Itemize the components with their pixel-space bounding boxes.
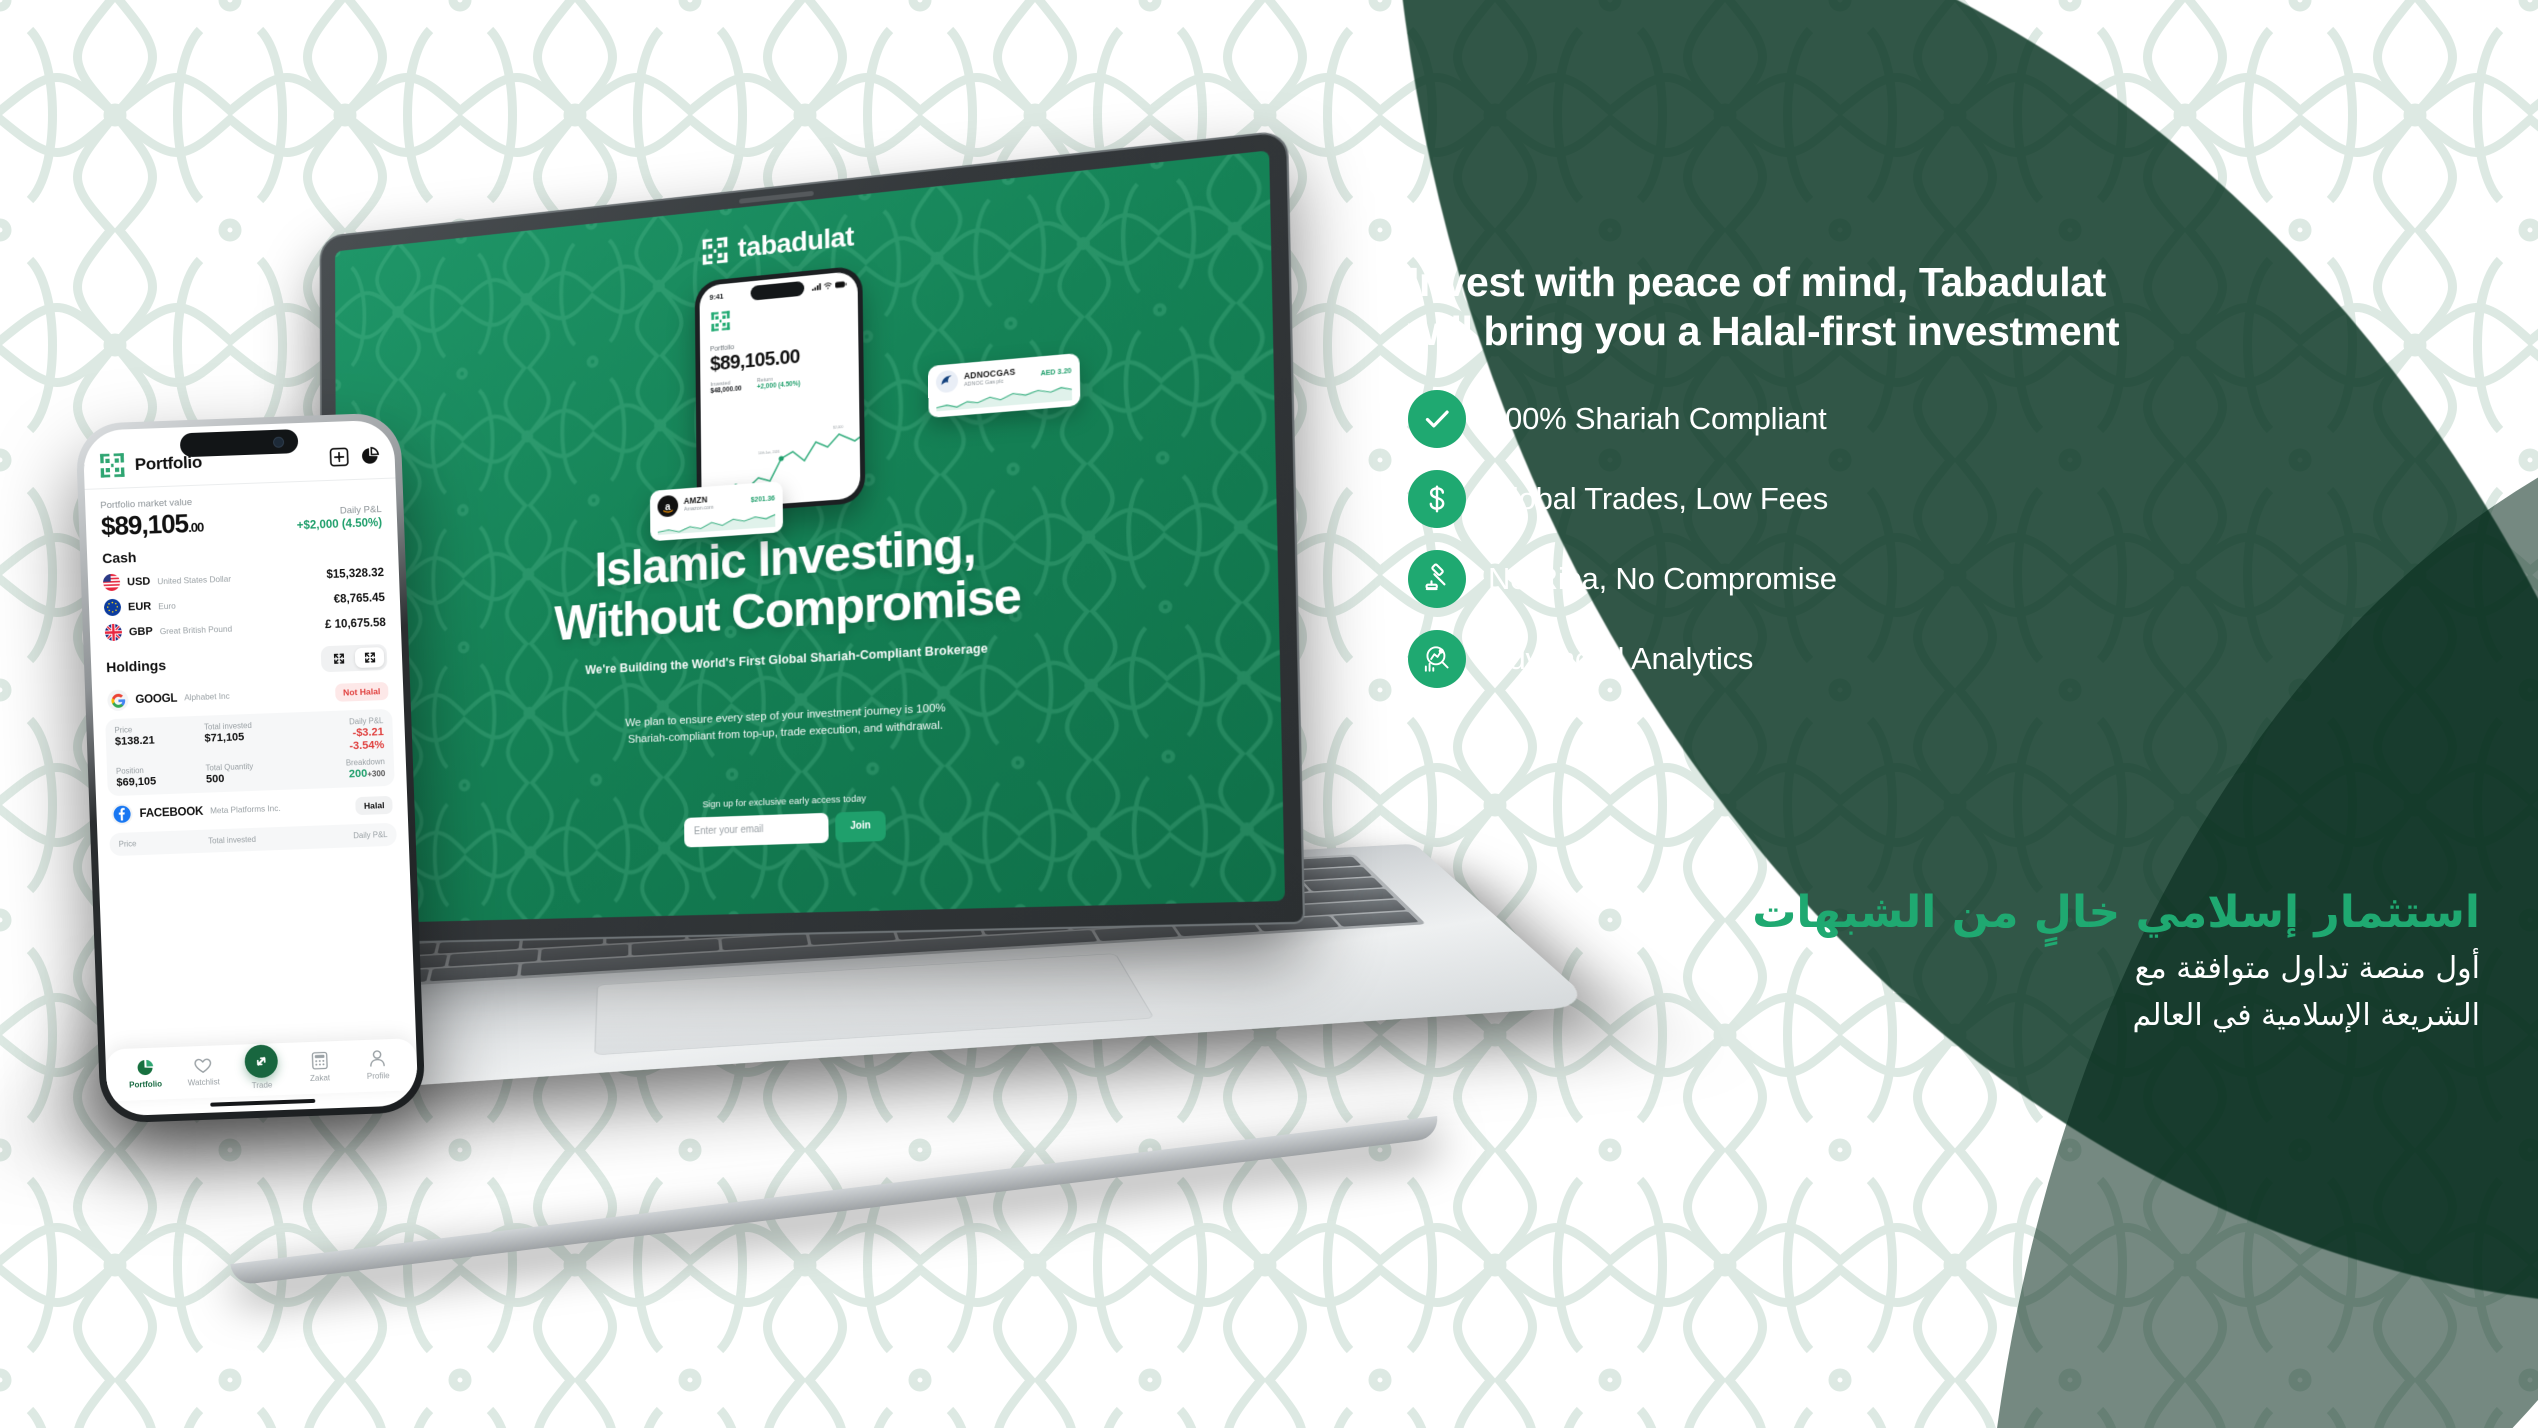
tab-label: Trade — [252, 1080, 273, 1090]
pnl-cell: Daily P&L — [298, 830, 388, 842]
laptop-body-copy: We plan to ensure every step of your inv… — [625, 700, 946, 749]
arabic-headline: استثمار إسلامي خالٍ من الشبهات — [1380, 885, 2480, 940]
status-badge: Not Halal — [335, 681, 389, 701]
wifi-icon — [824, 282, 833, 290]
quantity-value: 500 — [206, 770, 296, 785]
add-square-icon[interactable] — [329, 447, 349, 467]
collapse-view-icon[interactable] — [324, 648, 354, 669]
laptop-screen: tabadulat 9:41 — [335, 150, 1285, 924]
home-indicator — [210, 1099, 315, 1107]
laptop-lid: tabadulat 9:41 — [320, 130, 1306, 945]
holdings-view-toggle[interactable] — [321, 644, 388, 672]
breakdown-rest: +300 — [367, 769, 385, 779]
arabic-subtext: أول منصة تداول متوافقة مع الشريعة الإسلا… — [1380, 946, 2480, 1039]
hero-invested-block: Invested $48,000.00 — [710, 380, 741, 395]
laptop-tagline: We're Building the World's First Global … — [585, 641, 988, 677]
breakdown-cell: Breakdown 200+300 — [295, 757, 385, 782]
holding-ticker: FACEBOOK — [139, 805, 203, 819]
pie-chart-icon[interactable] — [360, 446, 380, 466]
hero-invested-value: $48,000.00 — [710, 385, 741, 395]
holding-company: Alphabet Inc — [184, 692, 230, 703]
right-content-panel: Invest with peace of mind, Tabadulat wil… — [1408, 258, 2468, 688]
eu-flag-icon — [104, 599, 122, 617]
floating-card-adnocgas[interactable]: ADNOCGAS ADNOC Gas plc AED 3.20 — [928, 353, 1081, 418]
calculator-icon — [311, 1050, 328, 1071]
tabadulat-wordmark: tabadulat — [738, 221, 855, 264]
google-logo-icon — [107, 689, 129, 711]
laptop-hero-title: Islamic Investing, Without Compromise — [554, 516, 1021, 650]
portfolio-market-value: $89,105.00 — [101, 510, 204, 540]
adnoc-logo-icon — [936, 370, 958, 394]
phone-mockup: Portfolio Portfolio market value — [75, 412, 425, 1123]
facebook-logo-icon — [111, 803, 133, 825]
bottom-tab-bar: Portfolio Watchlist Trade — [105, 1038, 418, 1101]
currency-code: USD — [127, 575, 151, 588]
currency-name: Euro — [158, 600, 176, 611]
holding-company: Meta Platforms Inc. — [210, 804, 281, 816]
currency-name: Great British Pound — [160, 623, 233, 636]
expand-view-icon[interactable] — [355, 647, 385, 668]
gb-flag-icon — [105, 624, 123, 642]
hero-phone-notch — [751, 281, 805, 301]
cellular-icon — [811, 283, 821, 291]
feature-list: 100% Shariah Compliant Global Trades, Lo… — [1408, 390, 2468, 688]
heart-icon — [194, 1055, 213, 1076]
pnl-percent: -3.54% — [294, 739, 384, 754]
currency-code: GBP — [129, 625, 153, 638]
price-cell: Price $138.21 — [114, 723, 205, 761]
currency-code: EUR — [128, 600, 152, 613]
currency-amount: €8,765.45 — [333, 591, 385, 605]
floating-card-amzn[interactable]: a AMZN Amazon.com $201.36 — [650, 481, 783, 541]
tab-label: Zakat — [310, 1073, 330, 1083]
gavel-icon — [1408, 550, 1466, 608]
feature-item-global-trades: Global Trades, Low Fees — [1408, 470, 2468, 528]
feature-item-shariah-compliant: 100% Shariah Compliant — [1408, 390, 2468, 448]
feature-label: Global Trades, Low Fees — [1488, 481, 1828, 517]
quantity-cell: Total Quantity 500 — [205, 760, 295, 785]
dollar-icon — [1408, 470, 1466, 528]
svg-text:14th Jan, 2026: 14th Jan, 2026 — [758, 450, 780, 456]
invested-label: Total invested — [208, 833, 298, 845]
tabadulat-mark-icon — [701, 235, 730, 267]
holding-ticker: GOOGL — [135, 692, 177, 706]
analytics-icon — [1408, 630, 1466, 688]
signup-label: Sign up for exclusive early access today — [702, 793, 866, 810]
join-button[interactable]: Join — [835, 810, 885, 842]
promo-banner: tabadulat 9:41 — [0, 0, 2538, 1428]
position-value: $69,105 — [116, 774, 206, 789]
price-label: Price — [119, 837, 209, 849]
trade-arrows-icon — [244, 1044, 278, 1078]
daily-pnl-block: Daily P&L +$2,000 (4.50%) — [296, 504, 382, 532]
tab-portfolio[interactable]: Portfolio — [116, 1056, 175, 1090]
signup-form: Sign up for exclusive early access today… — [684, 792, 886, 847]
email-input[interactable] — [684, 812, 829, 847]
price-cell: Price — [119, 837, 209, 849]
laptop-mockup: tabadulat 9:41 — [255, 175, 1395, 1275]
breakdown-main: 200 — [349, 768, 368, 781]
invested-cell: Total invested $71,105 — [204, 719, 295, 757]
breakdown-value: 200+300 — [295, 767, 385, 782]
laptop-brand-logo: tabadulat — [701, 221, 854, 268]
tab-label: Watchlist — [188, 1077, 220, 1087]
battery-icon — [835, 281, 847, 289]
tab-label: Profile — [367, 1071, 390, 1081]
tabadulat-mark-icon — [98, 451, 126, 479]
status-time: 9:41 — [709, 292, 723, 302]
portfolio-value-cents: .00 — [188, 520, 204, 536]
holdings-section-title: Holdings — [106, 657, 166, 675]
tab-label: Portfolio — [129, 1079, 162, 1089]
feature-item-no-riba: No Riba, No Compromise — [1408, 550, 2468, 608]
feature-label: Advanced Analytics — [1488, 641, 1753, 677]
headline-line1: Invest with peace of mind, Tabadulat — [1408, 258, 2468, 307]
daily-pnl-label: Daily P&L — [296, 504, 382, 518]
phone-notch — [179, 429, 298, 457]
status-badge: Halal — [356, 795, 393, 814]
tab-trade[interactable]: Trade — [232, 1052, 292, 1091]
hero-phone-group: 9:41 — [335, 224, 1275, 531]
tab-watchlist[interactable]: Watchlist — [174, 1054, 233, 1088]
card-price: AED 3.20 — [1040, 367, 1071, 377]
phone-screen: Portfolio Portfolio market value — [83, 420, 419, 1117]
feature-label: No Riba, No Compromise — [1488, 561, 1837, 597]
tab-profile[interactable]: Profile — [348, 1047, 407, 1081]
card-price: $201.36 — [751, 495, 775, 504]
arabic-sub-line2: الشريعة الإسلامية في العالم — [1380, 993, 2480, 1040]
laptop-base-lip — [230, 1116, 1440, 1286]
invested-value: $71,105 — [204, 729, 294, 744]
feature-label: 100% Shariah Compliant — [1488, 401, 1827, 437]
currency-name: United States Dollar — [157, 573, 231, 586]
pie-chart-icon — [136, 1057, 154, 1078]
hero-return-block: Return +2,000 (4.50%) — [757, 374, 801, 391]
person-icon — [369, 1048, 387, 1069]
currency-amount: £ 10,675.58 — [325, 616, 386, 630]
phone-content: Portfolio market value $89,105.00 Daily … — [85, 478, 419, 1116]
headline: Invest with peace of mind, Tabadulat wil… — [1408, 258, 2468, 356]
feature-item-advanced-analytics: Advanced Analytics — [1408, 630, 2468, 688]
card-company: Amazon.com — [684, 505, 714, 513]
pnl-label: Daily P&L — [298, 830, 388, 842]
check-icon — [1408, 390, 1466, 448]
tab-zakat[interactable]: Zakat — [290, 1050, 349, 1084]
position-cell: Position $69,105 — [116, 764, 206, 789]
arabic-sub-line1: أول منصة تداول متوافقة مع — [1380, 946, 2480, 993]
amazon-logo-icon: a — [657, 495, 678, 518]
holding-details-googl: Price $138.21 Total invested $71,105 Dai… — [105, 709, 395, 796]
svg-text:$2,000: $2,000 — [833, 425, 843, 430]
pnl-cell: Daily P&L -$3.21 -3.54% — [294, 716, 385, 754]
currency-amount: $15,328.32 — [326, 566, 384, 580]
headline-line2: will bring you a Halal-first investment — [1408, 307, 2468, 356]
price-value: $138.21 — [115, 733, 205, 748]
hero-phone-mockup: 9:41 — [694, 265, 865, 514]
us-flag-icon — [103, 574, 121, 592]
hero-phone-app-logo-icon — [710, 310, 731, 333]
arabic-content: استثمار إسلامي خالٍ من الشبهات أول منصة … — [1380, 885, 2480, 1039]
invested-cell: Total invested — [208, 833, 298, 845]
